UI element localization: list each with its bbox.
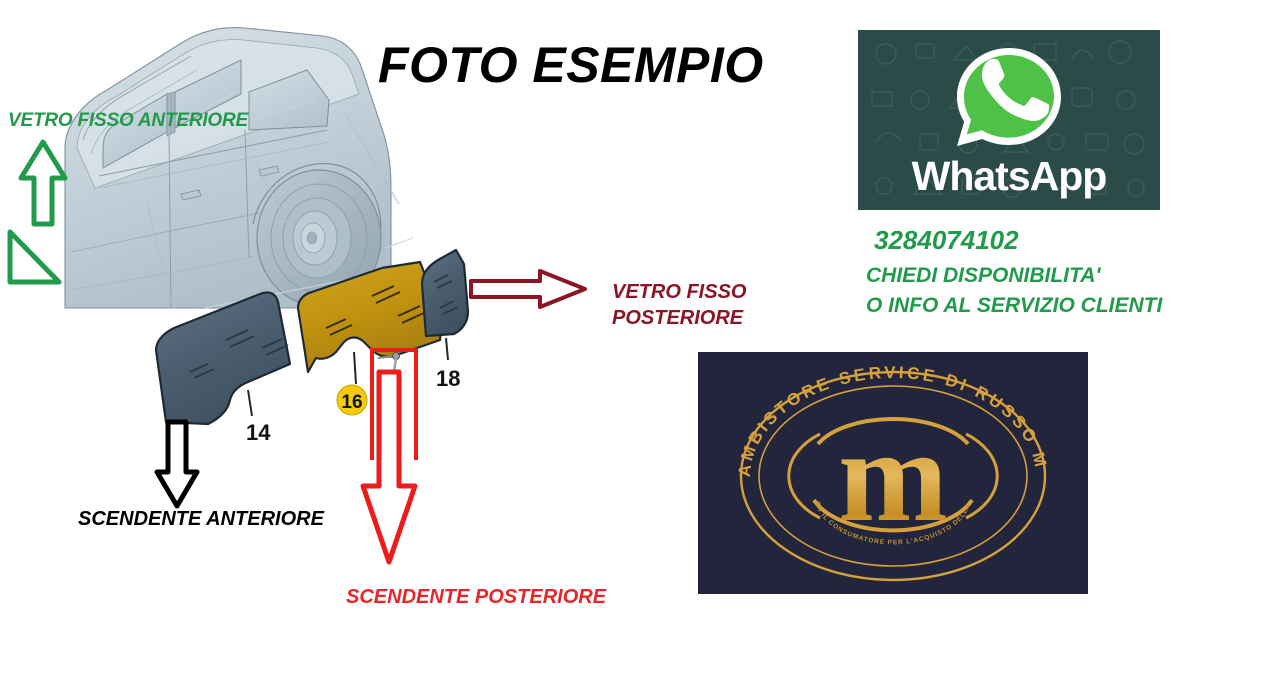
whatsapp-banner: WhatsApp [858,30,1160,210]
phone-number[interactable]: 3284074102 [874,225,1019,256]
whatsapp-icon [950,42,1068,154]
page-title: FOTO ESEMPIO [378,36,764,94]
label-rear-fixed-glass-line2: POSTERIORE [612,305,746,331]
shop-logo-monogram: m [838,402,948,549]
poster-canvas: 14 16 17 [0,0,1264,678]
shop-logo: MRICAMBISTORE SERVICE DI RUSSO MARCO m S… [698,352,1088,594]
label-front-fixed-glass: VETRO FISSO ANTERIORE [8,110,248,132]
svg-text:14: 14 [246,420,271,445]
svg-text:18: 18 [436,366,460,391]
label-rear-drop-glass: SCENDENTE POSTERIORE [346,586,606,609]
whatsapp-wordmark: WhatsApp [858,153,1160,200]
arrow-down-icon-black [154,418,200,510]
label-rear-fixed-glass: VETRO FISSO POSTERIORE [612,279,746,331]
arrow-down-icon-red [358,368,420,568]
label-front-drop-glass: SCENDENTE ANTERIORE [78,508,324,531]
triangle-icon [6,228,62,286]
arrow-up-icon [18,138,68,228]
arrow-right-icon [468,268,588,310]
contact-line-1: CHIEDI DISPONIBILITA' [866,264,1100,288]
label-rear-fixed-glass-line1: VETRO FISSO [612,279,746,305]
contact-line-2: O INFO AL SERVIZIO CLIENTI [866,294,1162,318]
